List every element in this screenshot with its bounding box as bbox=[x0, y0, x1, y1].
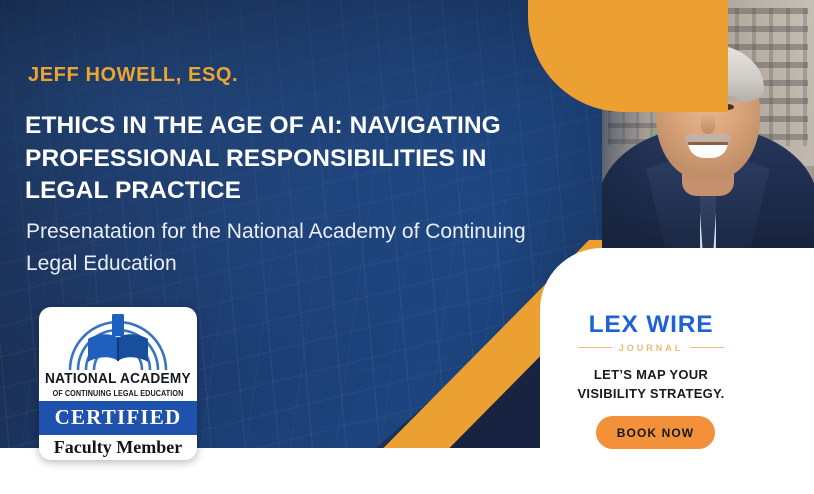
page-subtitle: Presenatation for the National Academy o… bbox=[26, 216, 536, 279]
promo-tagline-line2: VISIBILITY STRATEGY. bbox=[560, 385, 742, 404]
open-book-radiating-arcs-icon bbox=[39, 312, 197, 372]
speaker-name: JEFF HOWELL, ESQ. bbox=[28, 64, 238, 87]
promo-banner: JEFF HOWELL, ESQ. ETHICS IN THE AGE OF A… bbox=[0, 0, 814, 494]
certification-badge: NATIONAL ACADEMY OF CONTINUING LEGAL EDU… bbox=[39, 307, 197, 460]
page-title: ETHICS IN THE AGE OF AI: NAVIGATING PROF… bbox=[25, 110, 565, 208]
promo-tagline-line1: LET’S MAP YOUR bbox=[560, 366, 742, 385]
lex-wire-logo[interactable]: LEX WIRE JOURNAL bbox=[578, 313, 724, 353]
lex-wire-sub: JOURNAL bbox=[578, 343, 724, 353]
logo-rule-right bbox=[690, 347, 724, 349]
lex-wire-journal-label: JOURNAL bbox=[619, 343, 684, 353]
badge-status: CERTIFIED bbox=[39, 401, 197, 435]
badge-org-line1: NATIONAL ACADEMY bbox=[44, 372, 193, 387]
promo-tagline: LET’S MAP YOUR VISIBILITY STRATEGY. bbox=[560, 366, 742, 404]
logo-rule-left bbox=[578, 347, 612, 349]
lex-wire-wordmark: LEX WIRE bbox=[578, 313, 724, 338]
badge-role: Faculty Member bbox=[39, 435, 197, 461]
book-now-button[interactable]: BOOK NOW bbox=[596, 416, 715, 449]
badge-org-line2: OF CONTINUING LEGAL EDUCATION bbox=[47, 389, 189, 398]
